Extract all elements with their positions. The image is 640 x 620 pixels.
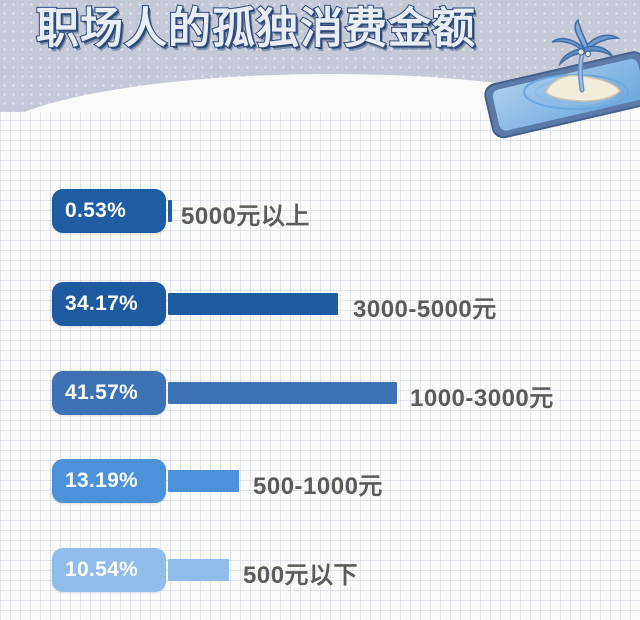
bar-segment	[168, 470, 239, 492]
bar-category-label: 500-1000元	[253, 466, 383, 501]
chart-row: 34.17% 3000-5000元	[0, 282, 640, 326]
value-pill[interactable]: 41.57%	[52, 371, 166, 415]
bar-value-label: 41.57%	[65, 381, 138, 405]
chart-row: 13.19% 500-1000元	[0, 459, 640, 503]
bar-value-label: 34.17%	[65, 292, 138, 316]
bar-value-label: 0.53%	[65, 199, 126, 223]
bar-category-label: 5000元以上	[181, 196, 310, 231]
bar-segment	[168, 559, 229, 581]
infographic-page: 职场人的孤独消费金额	[0, 0, 640, 620]
bar-category-label: 1000-3000元	[410, 378, 554, 413]
chart-row: 0.53% 5000元以上	[0, 189, 640, 233]
bar-value-label: 10.54%	[65, 558, 138, 582]
bar-segment	[168, 293, 338, 315]
value-pill[interactable]: 0.53%	[52, 189, 166, 233]
bar-category-label: 500元以下	[243, 555, 358, 590]
chart-row: 41.57% 1000-3000元	[0, 371, 640, 415]
value-pill[interactable]: 34.17%	[52, 282, 166, 326]
chart-row: 10.54% 500元以下	[0, 548, 640, 592]
bar-segment	[168, 382, 397, 404]
bar-segment	[168, 200, 172, 222]
bar-value-label: 13.19%	[65, 469, 138, 493]
bar-chart: 0.53% 5000元以上 34.17% 3000-5000元 41.57% 1…	[0, 0, 640, 620]
value-pill[interactable]: 10.54%	[52, 548, 166, 592]
bar-category-label: 3000-5000元	[353, 289, 497, 324]
value-pill[interactable]: 13.19%	[52, 459, 166, 503]
